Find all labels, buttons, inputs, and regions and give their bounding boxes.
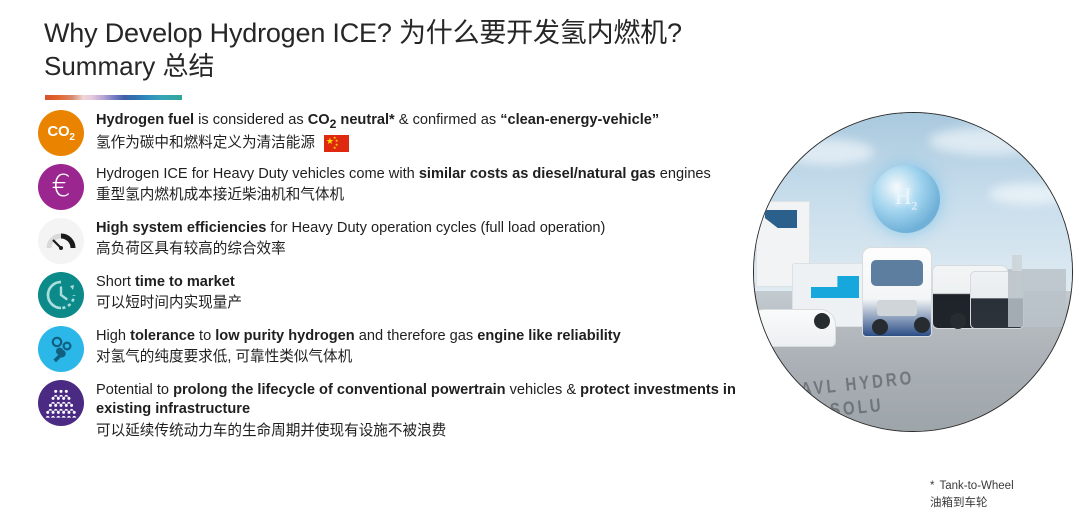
text-run: low purity hydrogen [215,328,354,344]
text-run: High system efficiencies [96,220,266,236]
text-run: Hydrogen ICE for Heavy Duty vehicles com… [96,166,419,182]
bullet-text: High system efficiencies for Heavy Duty … [96,218,758,261]
text-run: prolong the lifecycle of conventional po… [173,382,505,398]
wheel [914,317,930,333]
text-run: High [96,328,130,344]
text-run: Potential to [96,382,173,398]
bullet-text-english: Potential to prolong the lifecycle of co… [96,381,758,420]
industrial-plant [1008,269,1066,327]
bullet-text-english: Short time to market [96,273,758,292]
bullet-icon-wrap: € [38,164,88,214]
bullet-item-2: €Hydrogen ICE for Heavy Duty vehicles co… [38,164,758,214]
bullet-text-chinese: 对氢气的纯度要求低, 可靠性类似气体机 [96,347,758,368]
text-run: tolerance [130,328,195,344]
china-flag-icon: ★★★★★ [324,135,349,152]
subtitle-english: Summary [44,51,155,81]
text-run: to [195,328,215,344]
bullet-text: Hydrogen ICE for Heavy Duty vehicles com… [96,164,758,207]
title-english: Why Develop Hydrogen ICE? [44,18,392,48]
h2-letter: H [895,184,912,209]
footnote-english: Tank-to-Wheel [939,480,1013,492]
chinese-text: 高负荷区具有较高的综合效率 [96,239,286,260]
bullet-icon-wrap [38,272,88,322]
cloud [989,183,1069,205]
people-group-icon [38,380,84,426]
summary-bullet-list: CO2Hydrogen fuel is considered as CO2 ne… [38,110,758,446]
chinese-text: 可以延续传统动力车的生命周期并使现有设施不被浪费 [96,421,446,442]
title-chinese: 为什么要开发氢内燃机? [399,18,682,48]
text-run: similar costs as diesel/natural gas [419,166,656,182]
bullet-item-1: CO2Hydrogen fuel is considered as CO2 ne… [38,110,758,160]
text-run: vehicles & [506,382,581,398]
chinese-text: 可以短时间内实现量产 [96,293,242,314]
bullet-item-6: Potential to prolong the lifecycle of co… [38,380,758,442]
title-main: Why Develop Hydrogen ICE? 为什么要开发氢内燃机? [44,18,944,50]
text-run: neutral* [336,112,394,128]
bullet-item-3: High system efficiencies for Heavy Duty … [38,218,758,268]
gauge-icon [38,218,84,264]
footnote: *Tank-to-Wheel 油箱到车轮 [930,478,1014,511]
bullet-icon-wrap [38,326,88,376]
chinese-text: 对氢气的纯度要求低, 可靠性类似气体机 [96,347,352,368]
bullet-text-chinese: 重型氢内燃机成本接近柴油机和气体机 [96,185,758,206]
bullet-text-chinese: 可以延续传统动力车的生命周期并使现有设施不被浪费 [96,421,758,442]
text-run: engine like reliability [477,328,621,344]
text-run: Short [96,274,135,290]
page-title: Why Develop Hydrogen ICE? 为什么要开发氢内燃机? Su… [44,18,944,82]
h2-bubble-icon: H2 [872,165,940,233]
bullet-text-english: High system efficiencies for Heavy Duty … [96,219,758,238]
bullet-text: Potential to prolong the lifecycle of co… [96,380,758,442]
co2-icon: CO2 [38,110,84,156]
cloud [929,127,1049,155]
cloud [784,139,874,165]
bullet-text: Short time to market可以短时间内实现量产 [96,272,758,315]
euro-icon: € [38,164,84,210]
wheel [814,313,830,329]
text-run: and therefore gas [355,328,478,344]
text-run: time to market [135,274,235,290]
wheel [950,313,966,329]
wrench-gears-icon [38,326,84,372]
clock-icon [38,272,84,318]
bullet-item-5: High tolerance to low purity hydrogen an… [38,326,758,376]
bullet-text-english: High tolerance to low purity hydrogen an… [96,327,758,346]
wheel [872,319,888,335]
text-run: is considered as [194,112,308,128]
text-run: & confirmed as [395,112,500,128]
subtitle-chinese: 总结 [162,51,214,81]
text-run: Hydrogen fuel [96,112,194,128]
text-run: engines [656,166,711,182]
text-run: for Heavy Duty operation cycles (full lo… [266,220,605,236]
chinese-text: 重型氢内燃机成本接近柴油机和气体机 [96,185,344,206]
footnote-mark: * [930,480,934,492]
bullet-text: High tolerance to low purity hydrogen an… [96,326,758,369]
bullet-text-english: Hydrogen fuel is considered as CO2 neutr… [96,111,758,132]
bullet-icon-wrap [38,380,88,430]
chinese-text: 氢作为碳中和燃料定义为清洁能源 [96,133,315,154]
text-run: “clean-energy-vehicle” [500,112,659,128]
footnote-chinese: 油箱到车轮 [930,495,1014,512]
bullet-item-4: Short time to market可以短时间内实现量产 [38,272,758,322]
bullet-icon-wrap [38,218,88,268]
h2-subscript: 2 [911,199,917,213]
bullet-text-chinese: 可以短时间内实现量产 [96,293,758,314]
bullet-text-chinese: 氢作为碳中和燃料定义为清洁能源★★★★★ [96,133,758,154]
text-run: CO [308,112,330,128]
subtitle: Summary 总结 [44,51,944,82]
bullet-text-english: Hydrogen ICE for Heavy Duty vehicles com… [96,165,758,184]
bullet-text-chinese: 高负荷区具有较高的综合效率 [96,239,758,260]
bullet-text: Hydrogen fuel is considered as CO2 neutr… [96,110,758,154]
bullet-icon-wrap: CO2 [38,110,88,160]
accent-gradient-bar [45,95,182,100]
hydrogen-vehicles-photo: H2 AVL HYDRO CESOLU [753,112,1073,432]
